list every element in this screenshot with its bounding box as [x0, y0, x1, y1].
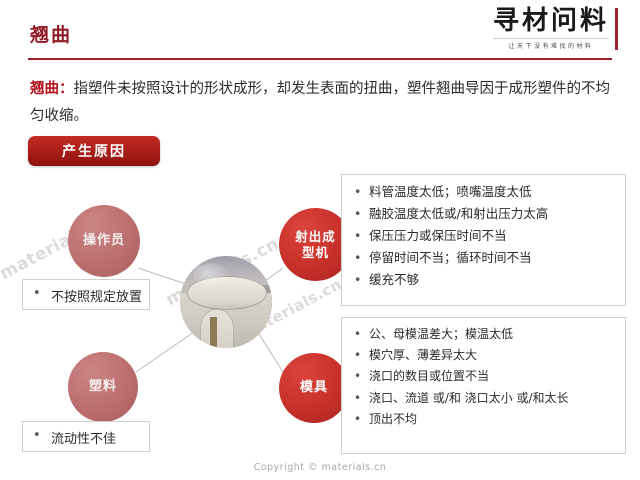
list-item: 顶出不均 — [354, 410, 625, 428]
node-mold[interactable]: 模具 — [279, 353, 349, 423]
node-mold-label: 模具 — [300, 380, 328, 396]
definition-paragraph: 翘曲：指塑件未按照设计的形状成形，却发生表面的扭曲，塑件翘曲导因于成形塑件的不均… — [30, 76, 610, 130]
sphere-arch — [200, 309, 233, 348]
node-machine-line2: 型机 — [302, 245, 329, 260]
box-operator-causes: 不按照规定放置 — [22, 279, 150, 310]
node-operator[interactable]: 操作员 — [68, 205, 140, 277]
node-machine-line1: 射出成 — [295, 229, 336, 244]
list-item: 浇口、流道 或/和 浇口太小 或/和太长 — [354, 389, 625, 407]
list-item: 公、母模温差大；模温太低 — [354, 325, 625, 343]
list-item: 停留时间不当；循环时间不当 — [354, 248, 625, 267]
list-item: 料管温度太低；喷嘴温度太低 — [354, 182, 625, 201]
list-item: 融胶温度太低或/和射出压力太高 — [354, 204, 625, 223]
definition-separator: ： — [59, 81, 74, 97]
mold-cause-list: 公、母模温差大；模温太低 模穴厚、薄差异太大 浇口的数目或位置不当 浇口、流道 … — [342, 318, 625, 428]
page-title: 翘曲 — [30, 20, 72, 47]
node-injection-machine-label: 射出成 型机 — [295, 229, 336, 260]
list-item: 浇口的数目或位置不当 — [354, 367, 625, 385]
list-item: 流动性不佳 — [33, 428, 149, 447]
causes-banner: 产生原因 — [28, 136, 160, 166]
brand-logo: 寻材问料 让天下没有难找的材料 — [493, 8, 618, 50]
sphere-highlight — [193, 263, 230, 287]
sphere-slot — [210, 317, 216, 348]
box-mold-causes: 公、母模温差大；模温太低 模穴厚、薄差异太大 浇口的数目或位置不当 浇口、流道 … — [341, 317, 626, 454]
center-sphere-image — [180, 256, 272, 348]
operator-cause-list: 不按照规定放置 — [23, 280, 149, 305]
list-item: 不按照规定放置 — [33, 286, 149, 305]
list-item: 保压压力或保压时间不当 — [354, 226, 625, 245]
list-item: 模穴厚、薄差异太大 — [354, 346, 625, 364]
brand-tagline: 让天下没有难找的材料 — [493, 38, 609, 50]
footer-copyright: Copyright © materials.cn — [0, 462, 640, 473]
slide-canvas: materials.cn materials.cn materials.cn m… — [0, 0, 640, 480]
plastic-cause-list: 流动性不佳 — [23, 422, 149, 447]
header-divider — [28, 58, 612, 60]
machine-cause-list: 料管温度太低；喷嘴温度太低 融胶温度太低或/和射出压力太高 保压压力或保压时间不… — [342, 175, 625, 289]
node-operator-label: 操作员 — [83, 233, 125, 249]
definition-body: 指塑件未按照设计的形状成形，却发生表面的扭曲，塑件翘曲导因于成形塑件的不均匀收缩… — [30, 81, 610, 124]
box-plastic-causes: 流动性不佳 — [22, 421, 150, 452]
definition-term: 翘曲 — [30, 81, 59, 97]
node-plastic[interactable]: 塑料 — [68, 352, 138, 422]
list-item: 缓充不够 — [354, 270, 625, 289]
box-machine-causes: 料管温度太低；喷嘴温度太低 融胶温度太低或/和射出压力太高 保压压力或保压时间不… — [341, 174, 626, 306]
brand-logo-text: 寻材问料 — [493, 8, 609, 35]
node-plastic-label: 塑料 — [89, 379, 117, 395]
